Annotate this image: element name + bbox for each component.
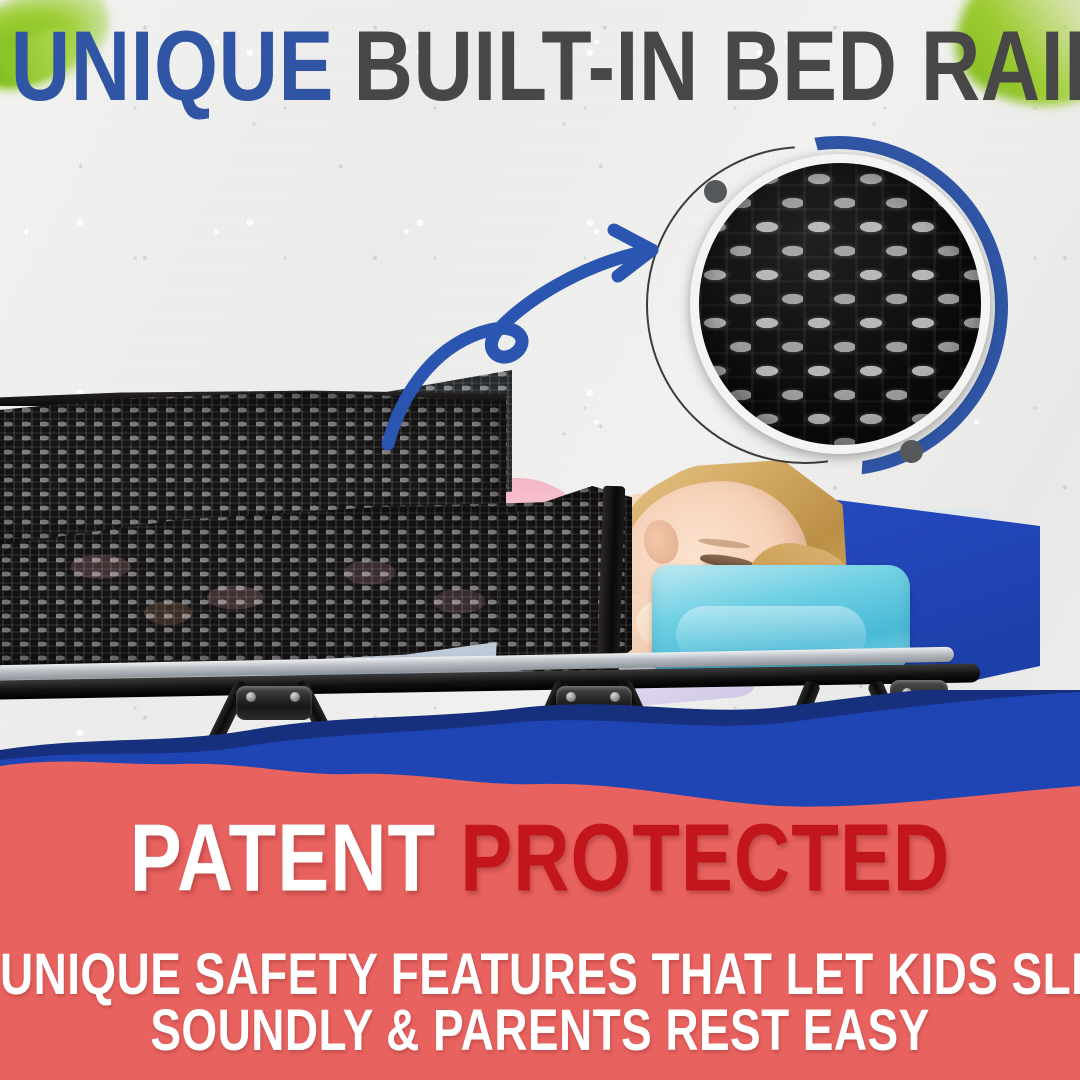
product-infographic: UNIQUEBUILT-IN BED RAIL <box>0 0 1080 1080</box>
callout-dot-bottom <box>900 440 923 463</box>
headline-accent-word: UNIQUE <box>11 16 334 115</box>
banner-subtitle-text-2: SOUNDLY & PARENTS REST EASY <box>150 1000 929 1059</box>
page-title: UNIQUEBUILT-IN BED RAIL <box>11 16 1069 100</box>
banner-title-red: PROTECTED <box>460 810 950 905</box>
banner-title-white: PATENT <box>130 810 436 905</box>
banner-title: PATENTPROTECTED <box>0 810 1080 888</box>
callout-dot-top <box>704 180 727 203</box>
banner-subtitle-line-1: UNIQUE SAFETY FEATURES THAT LET KIDS SLE… <box>0 944 1080 990</box>
banner-subtitle-line-2: SOUNDLY & PARENTS REST EASY <box>0 1000 1080 1046</box>
mesh-closeup-callout <box>668 136 1008 476</box>
banner-subtitle-text-1: UNIQUE SAFETY FEATURES THAT LET KIDS SLE… <box>0 944 1080 1003</box>
headline-main-words: BUILT-IN BED RAIL <box>354 16 1080 115</box>
mesh-fabric-closeup-image <box>690 154 990 454</box>
bed-rail-front-seethrough <box>0 538 560 634</box>
curved-pointer-arrow <box>330 218 700 458</box>
